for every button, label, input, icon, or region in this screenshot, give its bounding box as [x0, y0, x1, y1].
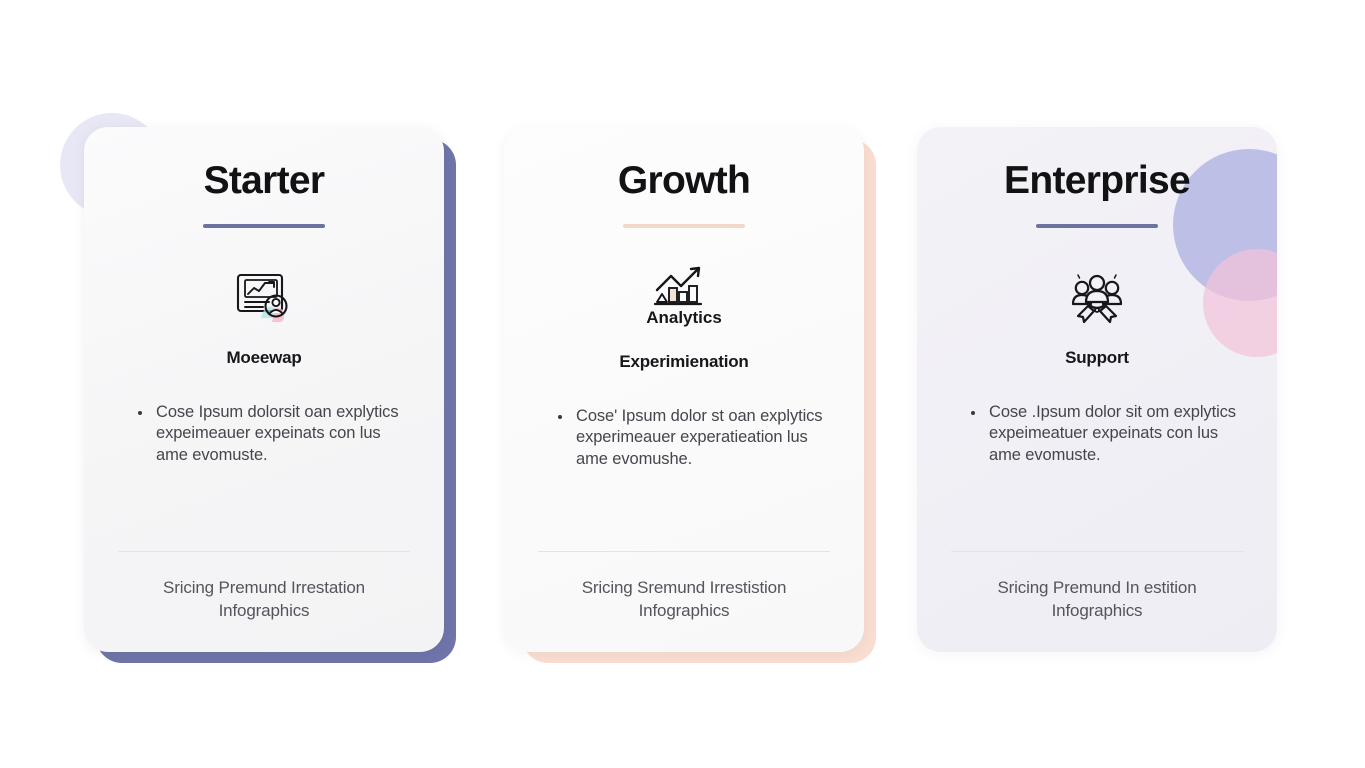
- feature-label: Experimienation: [619, 352, 748, 372]
- footer-divider: [118, 551, 410, 552]
- title-accent-rule: [203, 224, 325, 228]
- card-face: Enterprise: [917, 127, 1277, 652]
- feature-bullet-list: Cose' Ipsum dolor st oan explytics exper…: [538, 406, 830, 471]
- feature-label: Moeewap: [226, 348, 301, 368]
- list-item: Cose' Ipsum dolor st oan explytics exper…: [558, 406, 830, 471]
- title-accent-rule: [1036, 224, 1158, 228]
- feature-label: Support: [1065, 348, 1129, 368]
- card-face: Growth: [504, 127, 864, 652]
- footer-divider: [538, 551, 830, 552]
- team-group-people-icon: [1066, 258, 1128, 336]
- pricing-cards-stage: Starter: [0, 0, 1365, 768]
- footer-divider: [951, 551, 1243, 552]
- pricing-card-growth[interactable]: Growth: [504, 127, 876, 663]
- card-footer: Sricing Sremund Irrestistion Infographic…: [538, 551, 830, 652]
- card-title: Enterprise: [1004, 161, 1190, 202]
- card-title: Starter: [204, 161, 325, 202]
- list-item: Cose .Ipsum dolor sit om explytics expei…: [971, 402, 1243, 467]
- footer-text: Sricing Premund In estition Infographics: [951, 576, 1243, 622]
- card-title: Growth: [618, 161, 750, 202]
- list-item: Cose Ipsum dolorsit oan explytics expeim…: [138, 402, 410, 467]
- card-face: Starter: [84, 127, 444, 652]
- card-footer: Sricing Premund In estition Infographics: [951, 551, 1243, 652]
- analytics-bar-chart-trend-icon: Analytics: [647, 258, 721, 336]
- feature-bullet-list: Cose Ipsum dolorsit oan explytics expeim…: [118, 402, 410, 467]
- analytics-icon-caption: Analytics: [647, 308, 721, 327]
- pricing-card-starter[interactable]: Starter: [84, 127, 456, 663]
- title-accent-rule: [623, 224, 745, 228]
- feature-bullet-list: Cose .Ipsum dolor sit om explytics expei…: [951, 402, 1243, 467]
- footer-text: Sricing Premund Irrestation Infographics: [118, 576, 410, 622]
- footer-text: Sricing Sremund Irrestistion Infographic…: [538, 576, 830, 622]
- card-footer: Sricing Premund Irrestation Infographics: [118, 551, 410, 652]
- pricing-card-enterprise[interactable]: Enterprise: [917, 127, 1277, 652]
- report-chart-person-icon: [233, 258, 295, 336]
